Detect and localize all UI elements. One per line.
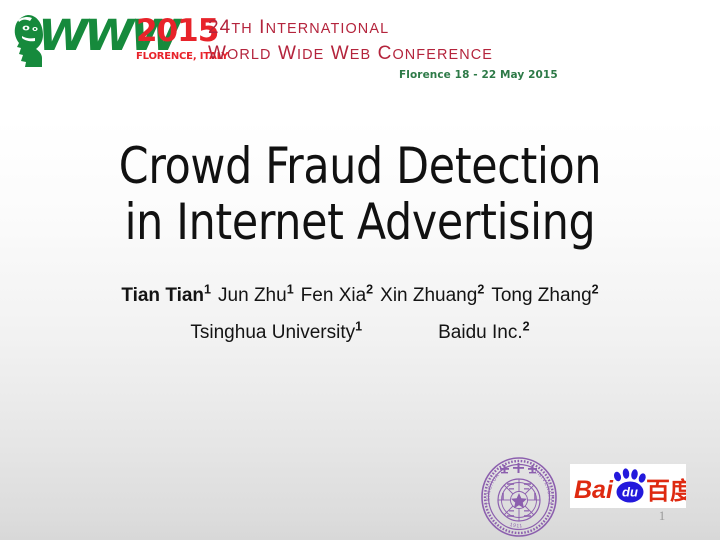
author-name-4: Tong Zhang2 [491,285,598,306]
conference-title-line2: WORLD WIDE WEB CONFERENCE [208,43,493,65]
page-title: Crowd Fraud Detection in Internet Advert… [0,138,720,250]
conference-banner: WWW 2015 FLORENCE, ITALY 24TH INTERNATIO… [12,8,552,80]
seal-left-text: TSINGHUA [486,472,502,505]
author-name-0: Tian Tian1 [121,285,211,306]
affiliation-0: Tsinghua University1 [190,322,362,343]
tsinghua-university-seal: TSINGHUA UNIVERSITY 1911 [478,455,560,539]
author-marker-2: 2 [366,283,373,297]
author-name-3: Xin Zhuang2 [380,285,484,306]
author-marker-4: 2 [592,283,599,297]
www2015-logo: WWW 2015 FLORENCE, ITALY [12,12,194,70]
author-list: Tian Tian1Jun Zhu1Fen Xia2Xin Zhuang2Ton… [0,285,720,307]
title-line-1: Crowd Fraud Detection [18,138,702,194]
author-marker-0: 1 [204,283,211,297]
affiliation-1: Baidu Inc.2 [438,322,529,343]
baidu-logo: Bai du 百度 [570,464,686,508]
author-marker-1: 1 [287,283,294,297]
logo-year: 2015 [136,16,218,47]
baidu-paw-text: du [622,485,638,500]
slide-number: 1 [648,508,676,524]
title-line-2: in Internet Advertising [18,194,702,250]
baidu-chinese-text: 百度 [646,477,686,505]
affiliation-marker-1: 2 [523,320,530,334]
seal-year: 1911 [509,522,523,529]
affiliation-list: Tsinghua University1Baidu Inc.2 [0,322,720,344]
author-marker-3: 2 [477,283,484,297]
author-name-2: Fen Xia2 [301,285,373,306]
baidu-latin-text: Bai [574,476,614,504]
author-name-1: Jun Zhu1 [218,285,294,306]
conference-title-line1: 24TH INTERNATIONAL [208,17,389,39]
affiliation-marker-0: 1 [355,320,362,334]
slide-root: WWW 2015 FLORENCE, ITALY 24TH INTERNATIO… [0,0,720,540]
conference-dates: Florence 18 - 22 May 2015 [399,69,558,81]
